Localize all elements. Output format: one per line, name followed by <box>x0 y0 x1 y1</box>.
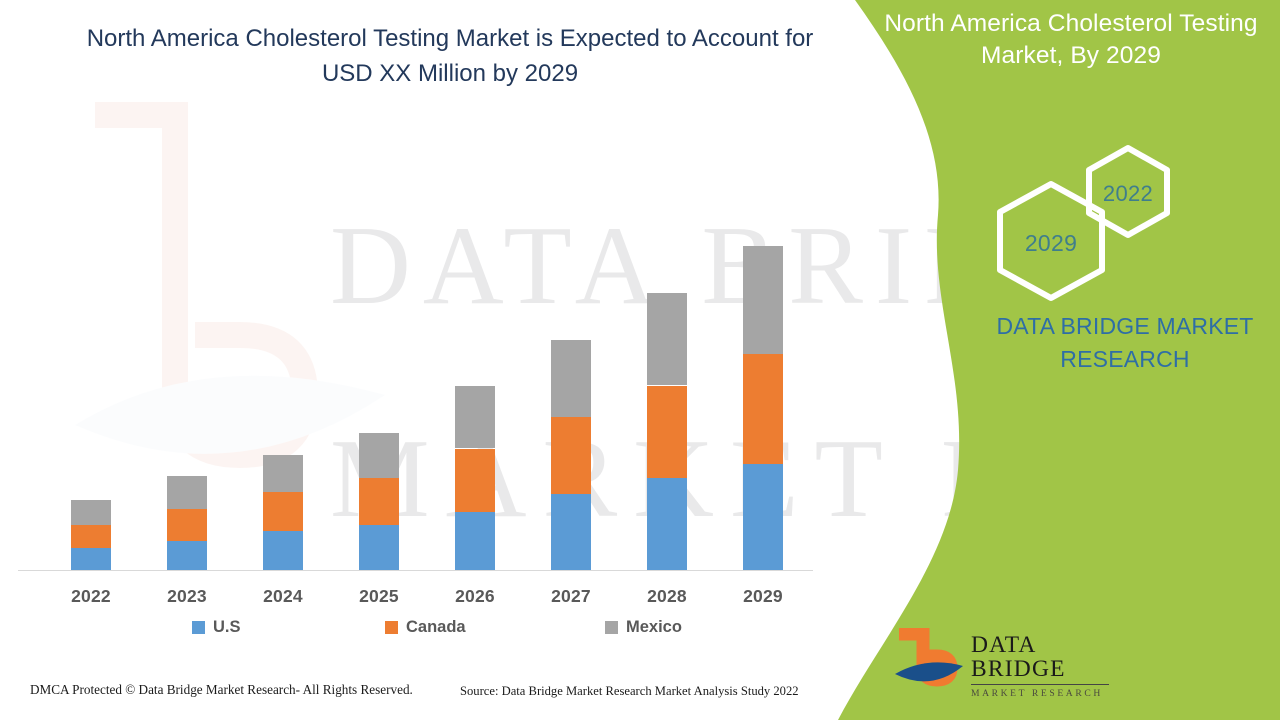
bar-group[interactable] <box>71 0 111 570</box>
x-axis-label: 2029 <box>718 586 808 607</box>
bar-segment-mexico[interactable] <box>263 455 303 492</box>
bar-segment-canada[interactable] <box>743 354 783 464</box>
bar-group[interactable] <box>263 0 303 570</box>
bar-segment-canada[interactable] <box>551 417 591 494</box>
chart-legend: U.SCanadaMexico <box>0 618 825 644</box>
legend-item-canada[interactable]: Canada <box>385 618 466 637</box>
bar-segment-us[interactable] <box>263 531 303 570</box>
bar-group[interactable] <box>551 0 591 570</box>
legend-item-mexico[interactable]: Mexico <box>605 618 682 637</box>
bar-segment-us[interactable] <box>359 525 399 570</box>
bar-segment-us[interactable] <box>455 512 495 571</box>
logo-main-text: DATA BRIDGE <box>971 634 1111 681</box>
x-axis-label: 2028 <box>622 586 712 607</box>
hexagon-2022: 2022 <box>1080 143 1176 244</box>
bar-segment-us[interactable] <box>167 541 207 570</box>
hexagon-2022-label: 2022 <box>1080 143 1176 244</box>
bar-segment-canada[interactable] <box>71 525 111 548</box>
bar-group[interactable] <box>455 0 495 570</box>
legend-swatch-icon <box>385 621 398 634</box>
bar-segment-us[interactable] <box>743 464 783 570</box>
legend-label: Mexico <box>626 618 682 637</box>
legend-label: Canada <box>406 618 466 637</box>
bar-segment-canada[interactable] <box>263 492 303 532</box>
bar-group[interactable] <box>743 0 783 570</box>
legend-swatch-icon <box>192 621 205 634</box>
bar-segment-canada[interactable] <box>647 386 687 479</box>
legend-item-us[interactable]: U.S <box>192 618 241 637</box>
bar-segment-mexico[interactable] <box>167 476 207 508</box>
x-axis-label: 2026 <box>430 586 520 607</box>
data-bridge-logo: DATA BRIDGE MARKET RESEARCH <box>893 628 1108 700</box>
bar-segment-mexico[interactable] <box>551 340 591 417</box>
brand-name: DATA BRIDGE MARKET RESEARCH <box>975 310 1275 375</box>
bar-group[interactable] <box>167 0 207 570</box>
bar-segment-mexico[interactable] <box>743 246 783 354</box>
bar-segment-mexico[interactable] <box>359 433 399 478</box>
x-axis-label: 2023 <box>142 586 232 607</box>
bar-segment-canada[interactable] <box>359 478 399 525</box>
bar-segment-mexico[interactable] <box>71 500 111 525</box>
bar-segment-us[interactable] <box>647 478 687 570</box>
bar-segment-us[interactable] <box>71 548 111 570</box>
x-axis-label: 2024 <box>238 586 328 607</box>
legend-swatch-icon <box>605 621 618 634</box>
bar-segment-mexico[interactable] <box>455 386 495 448</box>
bar-segment-us[interactable] <box>551 494 591 571</box>
logo-divider <box>971 684 1109 685</box>
footer-source: Source: Data Bridge Market Research Mark… <box>460 684 799 699</box>
x-axis-label: 2025 <box>334 586 424 607</box>
chart-area: North America Cholesterol Testing Market… <box>0 0 860 720</box>
logo-sub-text: MARKET RESEARCH <box>971 688 1111 699</box>
x-axis-label: 2022 <box>46 586 136 607</box>
x-axis-line <box>18 570 813 571</box>
bar-group[interactable] <box>359 0 399 570</box>
legend-label: U.S <box>213 618 241 637</box>
bar-group[interactable] <box>647 0 687 570</box>
bar-segment-mexico[interactable] <box>647 293 687 386</box>
data-bridge-logo-text: DATA BRIDGE MARKET RESEARCH <box>971 634 1111 699</box>
footer-copyright: DMCA Protected © Data Bridge Market Rese… <box>30 682 413 698</box>
x-axis-label: 2027 <box>526 586 616 607</box>
panel-title: North America Cholesterol Testing Market… <box>876 8 1266 73</box>
data-bridge-mark-icon <box>893 628 965 698</box>
bar-segment-canada[interactable] <box>167 509 207 541</box>
bar-segment-canada[interactable] <box>455 449 495 512</box>
